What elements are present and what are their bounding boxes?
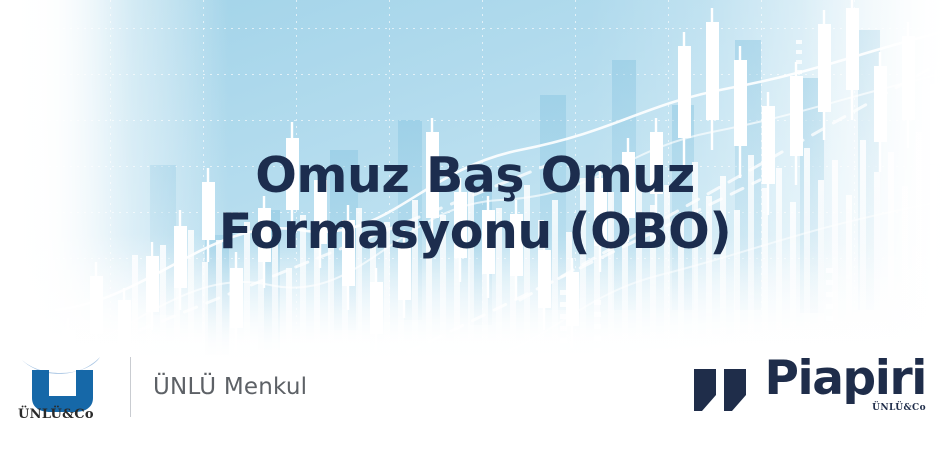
brand-divider (130, 357, 131, 417)
banner-title: Omuz Baş Omuz Formasyonu (OBO) (0, 148, 950, 260)
title-line-1: Omuz Baş Omuz (0, 148, 950, 204)
title-line-2: Formasyonu (OBO) (0, 204, 950, 260)
unlu-menkul-label: ÜNLÜ Menkul (153, 374, 307, 400)
piapiri-mark-icon (692, 369, 750, 411)
promo-banner: Omuz Baş Omuz Formasyonu (OBO) ÜNLÜ&Co Ü… (0, 0, 950, 450)
piapiri-wordmark-group: Piapiri ÜNLÜ&Co (764, 355, 926, 414)
unlu-co-logo: ÜNLÜ&Co (16, 354, 112, 420)
u-letter-icon (32, 370, 93, 412)
unlu-brand-block: ÜNLÜ&Co ÜNLÜ Menkul (16, 354, 307, 420)
piapiri-wordmark: Piapiri (764, 355, 926, 402)
banner-footer: ÜNLÜ&Co ÜNLÜ Menkul Piapiri ÜNLÜ&Co (0, 340, 950, 450)
unlu-co-wordmark: ÜNLÜ&Co (18, 407, 94, 422)
piapiri-brand-block: Piapiri ÜNLÜ&Co (692, 355, 926, 414)
